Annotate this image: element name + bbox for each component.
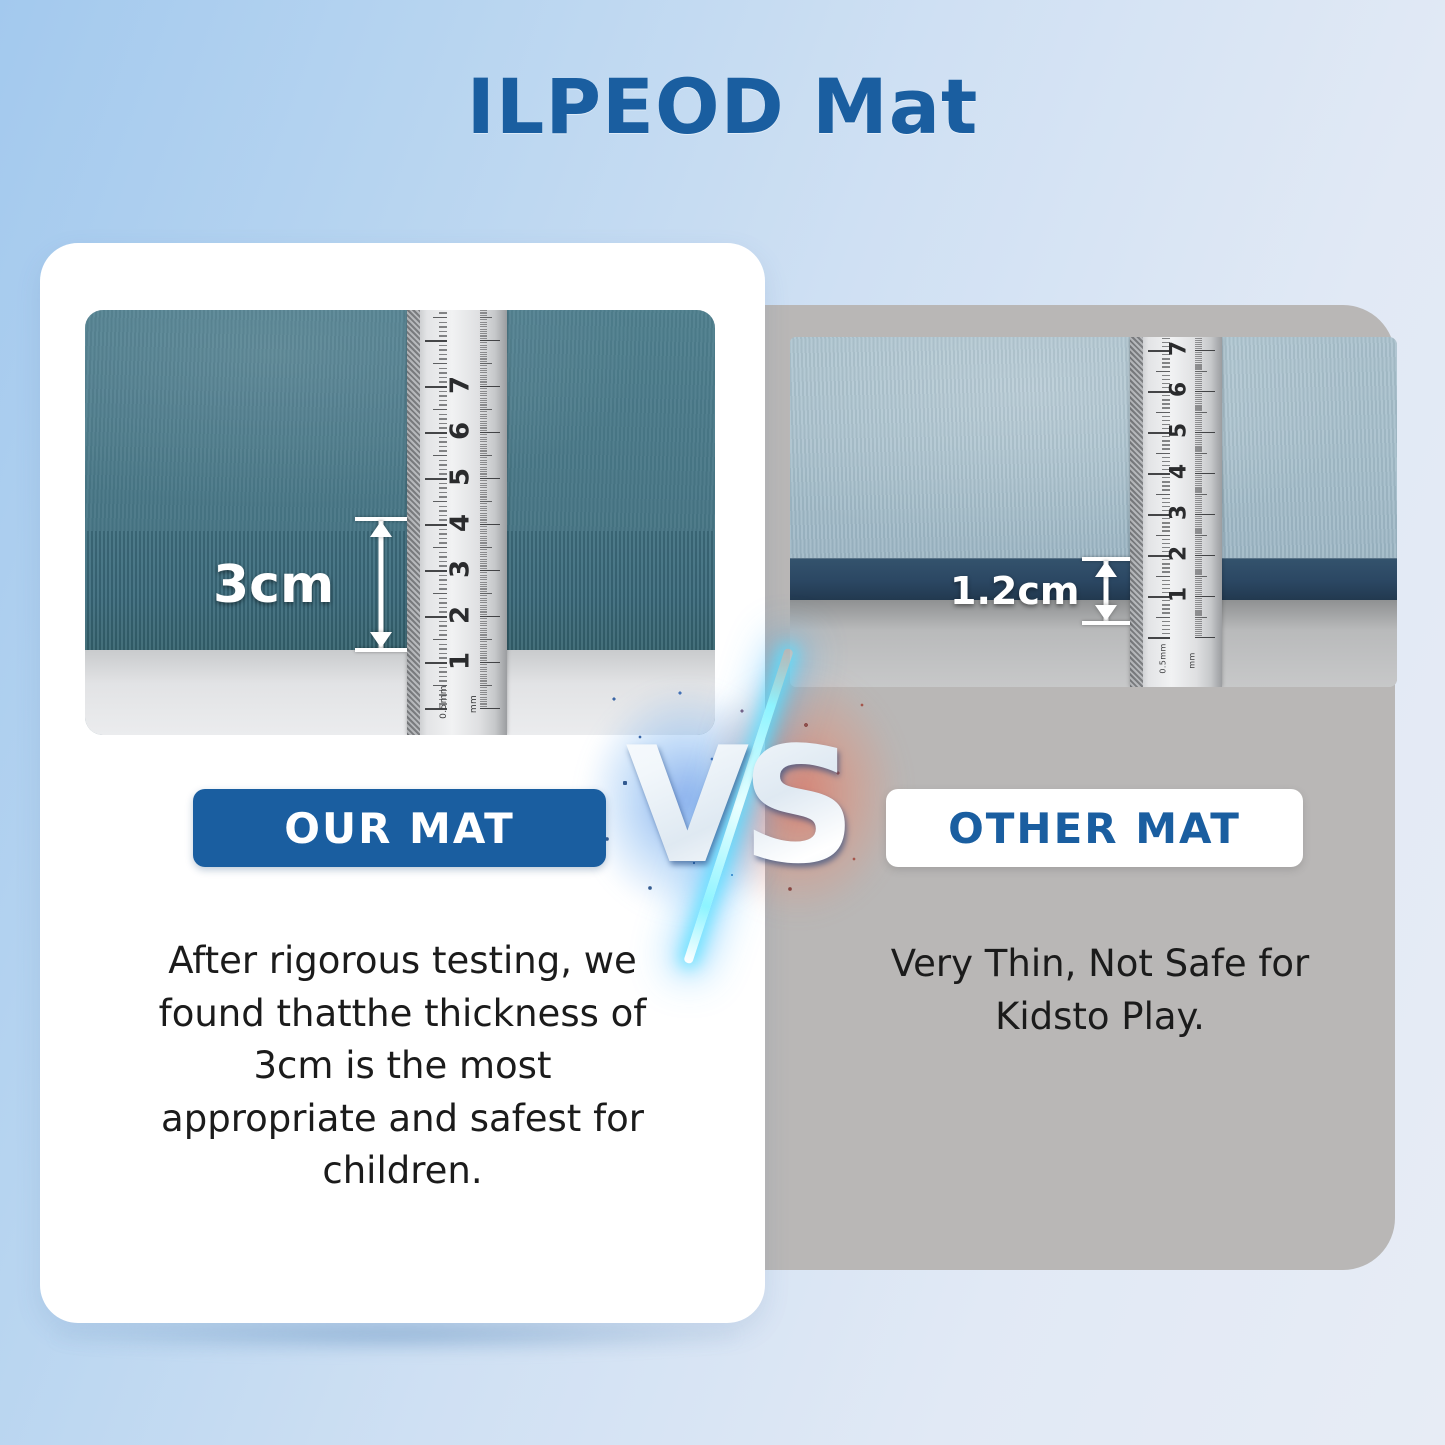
ruler-tick	[480, 319, 487, 320]
other-mat-measurement-label: 1.2cm	[950, 569, 1079, 613]
ruler-tick	[1195, 596, 1215, 597]
ruler-tick	[480, 444, 487, 445]
ruler-tick	[480, 687, 487, 688]
ruler-tick	[1195, 637, 1215, 638]
ruler-tick	[1148, 637, 1170, 639]
ruler-tick	[1195, 459, 1202, 460]
ruler-number: 7	[1167, 337, 1192, 362]
ruler-tick	[1195, 619, 1202, 620]
ruler-ticks-right	[480, 310, 504, 735]
ruler-tick	[480, 593, 492, 594]
ruler-tick	[480, 510, 487, 511]
ruler-tick	[425, 616, 447, 618]
ruler-tick	[1195, 368, 1202, 369]
ruler-tick	[1195, 354, 1202, 355]
ruler-tick	[1195, 356, 1202, 357]
ruler-tick	[480, 388, 487, 389]
ruler-tick	[1162, 571, 1170, 572]
ruler-tick	[1195, 465, 1202, 466]
ruler-tick	[433, 547, 447, 548]
ruler-tick	[1195, 563, 1202, 564]
ruler-tick	[1195, 617, 1207, 618]
ruler-tick	[1195, 381, 1202, 382]
ruler-tick	[1195, 471, 1202, 472]
ruler-tick	[480, 430, 487, 431]
ruler-tick	[480, 503, 487, 504]
ruler-tick	[1195, 610, 1202, 611]
ruler-tick	[480, 478, 500, 479]
ruler-tick	[480, 648, 487, 649]
ruler-tick	[1195, 409, 1202, 410]
ruler-tick	[480, 324, 487, 325]
ruler-tick	[480, 646, 487, 647]
ruler-tick	[1195, 567, 1202, 568]
ruler-tick	[1195, 338, 1202, 339]
ruler-tick	[480, 439, 487, 440]
ruler-tick	[1195, 440, 1202, 441]
ruler-tick	[480, 506, 487, 507]
ruler-tick	[1195, 496, 1202, 497]
ruler-tick	[480, 361, 487, 362]
ruler-tick	[480, 467, 487, 468]
ruler-tick	[1195, 424, 1202, 425]
ruler-tick	[480, 519, 487, 520]
ruler-tick	[480, 331, 487, 332]
ruler-tick	[1195, 594, 1202, 595]
ruler-tick	[1195, 389, 1202, 390]
ruler-tick	[1195, 457, 1202, 458]
ruler-tick	[480, 372, 487, 373]
ruler-tick	[480, 651, 487, 652]
ruler-tick	[480, 329, 487, 330]
ruler-tick	[1195, 561, 1202, 562]
ruler-knurled-edge-icon	[1130, 337, 1143, 687]
ruler-tick	[1195, 385, 1202, 386]
card-ground-shadow	[55, 1318, 735, 1352]
ruler-number: 5	[446, 461, 476, 492]
ruler-tick	[1195, 489, 1202, 490]
ruler-tick	[439, 358, 447, 359]
ruler-tick	[439, 542, 447, 543]
ruler-tick	[1195, 450, 1202, 451]
ruler-tick	[480, 312, 487, 313]
ruler-tick	[1195, 494, 1207, 495]
ruler-tick	[1195, 500, 1202, 501]
ruler-tick	[1195, 514, 1215, 515]
ruler-number: 2	[446, 599, 476, 630]
ruler-tick	[480, 464, 487, 465]
ruler-number: 7	[446, 369, 476, 400]
ruler-tick	[480, 345, 487, 346]
ruler-tick	[480, 499, 487, 500]
ruler-number: 1	[446, 645, 476, 676]
ruler-tick	[480, 522, 487, 523]
ruler-ticks-right	[1195, 337, 1219, 687]
ruler-tick	[480, 395, 487, 396]
ruler-tick	[1195, 479, 1202, 480]
ruler-tick	[1195, 346, 1202, 347]
ruler-tick	[480, 588, 487, 589]
ruler-tick	[480, 568, 487, 569]
ruler-tick	[1195, 477, 1202, 478]
ruler-tick	[439, 588, 447, 589]
ruler-tick	[1195, 635, 1202, 636]
ruler-tick	[1195, 371, 1207, 372]
ruler-tick	[480, 421, 487, 422]
ruler-tick	[1195, 487, 1202, 488]
ruler-tick	[480, 540, 487, 541]
ruler-tick	[1195, 420, 1202, 421]
ruler-tick	[1195, 524, 1202, 525]
ruler-tick	[480, 347, 487, 348]
ruler-tick	[480, 485, 487, 486]
ruler-tick	[1195, 526, 1202, 527]
ruler-tick	[1195, 623, 1202, 624]
ruler-tick	[480, 538, 487, 539]
ruler-tick	[1195, 549, 1202, 550]
ruler-tick	[480, 365, 487, 366]
ruler-tick	[1195, 506, 1202, 507]
ruler-tick	[1195, 590, 1202, 591]
ruler-tick	[1156, 617, 1170, 618]
ruler-tick	[1195, 412, 1207, 413]
ruler-unit-label: mm	[469, 695, 479, 713]
ruler-tick	[480, 602, 487, 603]
ruler-tick	[480, 678, 487, 679]
ruler-tick	[480, 370, 487, 371]
ruler-tick	[1195, 541, 1202, 542]
ruler-tick	[480, 411, 487, 412]
ruler-tick	[1195, 418, 1202, 419]
ruler-number: 6	[446, 415, 476, 446]
ruler-tick	[480, 398, 487, 399]
ruler-tick	[1195, 543, 1202, 544]
ruler-tick	[480, 434, 487, 435]
ruler-tick	[425, 340, 447, 342]
ruler-tick	[1195, 350, 1215, 351]
ruler-tick	[480, 616, 500, 617]
measurement-shaft	[379, 521, 384, 648]
ruler-tick	[1195, 584, 1202, 585]
ruler-tick	[1162, 567, 1170, 568]
ruler-tick	[439, 680, 447, 681]
ruler-tick	[1195, 432, 1215, 433]
ruler-tick	[480, 335, 487, 336]
ruler-tick	[480, 669, 487, 670]
ruler-tick	[480, 692, 487, 693]
ruler-tick	[1195, 397, 1202, 398]
ruler-tick	[439, 331, 447, 332]
ruler-tick	[480, 632, 487, 633]
ruler-tick	[1195, 401, 1202, 402]
ruler-tick	[1195, 537, 1202, 538]
measurement-arrowhead-down-icon	[370, 632, 392, 648]
ruler-tick	[480, 381, 487, 382]
ruler-tick	[480, 379, 487, 380]
ruler-tick	[1162, 362, 1170, 363]
ruler-tick	[480, 641, 487, 642]
ruler-tick	[1195, 485, 1202, 486]
ruler-tick	[1195, 559, 1202, 560]
ruler-tick	[480, 639, 492, 640]
other-mat-label-pill[interactable]: OTHER MAT	[886, 789, 1303, 867]
ruler-tick	[480, 352, 487, 353]
ruler-tick	[1195, 553, 1202, 554]
ruler-tick	[433, 409, 447, 410]
ruler-tick	[480, 326, 487, 327]
ruler-tick	[480, 517, 487, 518]
ruler-tick	[480, 340, 500, 341]
ruler-tick	[480, 570, 500, 571]
ruler-tick	[1195, 352, 1202, 353]
ruler-ticks-left	[421, 310, 447, 735]
ruler-tick	[1156, 494, 1170, 495]
ruler-tick	[1162, 608, 1170, 609]
ruler-tick	[480, 611, 487, 612]
ruler-tick	[1162, 489, 1170, 490]
ruler-tick	[1195, 403, 1202, 404]
ruler-tick	[1195, 508, 1202, 509]
ruler-tick	[1195, 621, 1202, 622]
ruler-tick	[1195, 602, 1202, 603]
ruler-tick	[480, 407, 487, 408]
ruler-tick	[480, 356, 487, 357]
ruler-tick	[1162, 629, 1170, 630]
ruler-tick	[1195, 510, 1202, 511]
ruler-number: 6	[1167, 377, 1192, 403]
ruler-tick	[425, 386, 447, 388]
ruler-tick	[480, 508, 487, 509]
ruler-number: 5	[1167, 418, 1192, 444]
ruler-tick	[1195, 600, 1202, 601]
ruler-tick	[480, 577, 487, 578]
ruler-tick	[439, 312, 447, 313]
ruler-tick	[480, 457, 487, 458]
our-mat-label-pill[interactable]: OUR MAT	[193, 789, 606, 867]
ruler-tick	[1162, 633, 1170, 634]
ruler-tick	[1195, 364, 1202, 365]
infographic-canvas: ILPEOD Mat 0.5mm mm 1234567	[0, 0, 1445, 1445]
ruler-tick	[1195, 360, 1202, 361]
ruler-tick	[480, 699, 487, 700]
ruler-tick	[480, 628, 487, 629]
ruler-tick	[480, 483, 487, 484]
ruler-tick	[480, 683, 487, 684]
ruler-tick	[480, 480, 487, 481]
ruler-tick	[480, 402, 487, 403]
ruler-tick	[1195, 520, 1202, 521]
ruler-tick	[1195, 426, 1202, 427]
ruler-tick	[1162, 612, 1170, 613]
ruler-tick	[1195, 416, 1202, 417]
ruler-tick	[480, 618, 487, 619]
ruler-tick	[425, 432, 447, 434]
ruler-tick	[439, 496, 447, 497]
ruler-tick	[1195, 625, 1202, 626]
ruler-tick	[1162, 530, 1170, 531]
ruler-tick	[1195, 358, 1202, 359]
ruler-tick	[439, 404, 447, 405]
ruler-tick	[1195, 557, 1202, 558]
ruler-tick	[480, 490, 487, 491]
ruler-precision-label: 0.5mm	[439, 685, 449, 719]
ruler-tick	[1195, 539, 1202, 540]
ruler-tick	[1195, 535, 1207, 536]
ruler-tick	[480, 418, 487, 419]
ruler-tick	[1195, 366, 1202, 367]
ruler-tick	[1195, 631, 1202, 632]
ruler-tick	[480, 536, 487, 537]
ruler-tick	[1195, 436, 1202, 437]
ruler-tick	[1195, 545, 1202, 546]
ruler-tick	[1195, 463, 1202, 464]
ruler-tick	[480, 680, 487, 681]
ruler-tick	[1162, 526, 1170, 527]
ruler-tick	[480, 333, 487, 334]
ruler-tick	[480, 437, 487, 438]
ruler-tick	[480, 386, 500, 387]
ruler-tick	[480, 609, 487, 610]
ruler-tick	[480, 579, 487, 580]
ruler-tick	[1195, 555, 1215, 556]
ruler-knurled-edge-icon	[407, 310, 420, 735]
ruler-tick	[480, 552, 487, 553]
ruler-number: 4	[446, 507, 476, 538]
ruler-tick	[480, 446, 487, 447]
ruler-tick	[480, 549, 487, 550]
ruler-tick	[480, 476, 487, 477]
ruler-tick	[480, 657, 487, 658]
measurement-cap-bottom	[1082, 621, 1130, 625]
ruler-tick	[480, 667, 487, 668]
ruler-tick	[1162, 621, 1170, 622]
ruler-tick	[1156, 412, 1170, 413]
ruler-tick	[480, 317, 492, 318]
ruler-tick	[480, 515, 487, 516]
ruler-tick	[1195, 467, 1202, 468]
ruler-tick	[480, 584, 487, 585]
ruler-tick	[480, 469, 487, 470]
ruler-tick	[1195, 573, 1202, 574]
ruler-tick	[480, 409, 492, 410]
ruler-tick	[480, 591, 487, 592]
ruler-tick	[1195, 608, 1202, 609]
ruler-tick	[1195, 522, 1202, 523]
ruler-tick	[480, 471, 487, 472]
ruler-tick	[1195, 516, 1202, 517]
other-mat-measurement-arrow	[1082, 557, 1130, 625]
ruler-tick	[480, 660, 487, 661]
ruler-tick	[433, 317, 447, 318]
ruler-tick	[1195, 528, 1202, 529]
ruler-tick	[480, 575, 487, 576]
ruler-tick	[1195, 576, 1207, 577]
ruler-tick	[425, 570, 447, 572]
ruler-tick	[480, 358, 487, 359]
ruler-tick	[480, 605, 487, 606]
ruler-tick	[480, 425, 487, 426]
ruler-tick	[1156, 453, 1170, 454]
ruler-tick	[1162, 625, 1170, 626]
ruler-tick	[480, 653, 487, 654]
ruler-tick	[480, 501, 492, 502]
ruler-tick	[480, 547, 492, 548]
ruler-tick	[1195, 502, 1202, 503]
ruler-tick	[1195, 633, 1202, 634]
ruler-tick	[1195, 430, 1202, 431]
ruler-tick	[480, 586, 487, 587]
ruler-tick	[480, 697, 487, 698]
ruler-tick	[425, 478, 447, 480]
ruler-tick	[480, 354, 487, 355]
ruler-tick	[1156, 535, 1170, 536]
ruler-tick	[480, 703, 487, 704]
ruler-tick	[480, 690, 487, 691]
ruler-tick	[1195, 512, 1202, 513]
ruler-tick	[480, 524, 500, 525]
ruler-tick	[1162, 448, 1170, 449]
ruler-tick	[480, 545, 487, 546]
ruler-tick	[433, 455, 447, 456]
ruler-tick	[1195, 414, 1202, 415]
ruler-our: 0.5mm mm 1234567	[407, 310, 507, 735]
ruler-tick	[1195, 340, 1202, 341]
ruler-tick	[480, 637, 487, 638]
ruler-tick	[480, 455, 492, 456]
ruler-tick	[439, 349, 447, 350]
ruler-tick	[1195, 498, 1202, 499]
ruler-tick	[1195, 344, 1202, 345]
ruler-tick	[1195, 588, 1202, 589]
ruler-tick	[480, 342, 487, 343]
ruler-tick	[1156, 576, 1170, 577]
ruler-tick	[1195, 448, 1202, 449]
ruler-tick	[1195, 391, 1215, 392]
ruler-tick	[1162, 444, 1170, 445]
ruler-tick	[480, 614, 487, 615]
ruler-tick	[480, 706, 487, 707]
ruler-tick	[1195, 342, 1202, 343]
ruler-tick	[480, 572, 487, 573]
ruler-tick	[1195, 586, 1202, 587]
ruler-tick	[480, 621, 487, 622]
ruler-tick	[480, 432, 500, 433]
ruler-tick	[480, 487, 487, 488]
ruler-tick	[480, 630, 487, 631]
ruler-tick	[480, 563, 487, 564]
ruler-tick	[1195, 377, 1202, 378]
ruler-tick	[1195, 438, 1202, 439]
ruler-tick	[480, 391, 487, 392]
ruler-tick	[1195, 592, 1202, 593]
ruler-tick	[439, 450, 447, 451]
ruler-tick	[480, 492, 487, 493]
ruler-tick	[480, 496, 487, 497]
ruler-tick	[1195, 395, 1202, 396]
ruler-tick	[439, 634, 447, 635]
ruler-tick	[1195, 532, 1202, 533]
ruler-tick	[1195, 569, 1202, 570]
other-mat-panel: 0.5mm mm 1234567 1.2cm	[735, 305, 1395, 1270]
ruler-tick	[1195, 399, 1202, 400]
ruler-tick	[480, 450, 487, 451]
ruler-tick	[1195, 469, 1202, 470]
ruler-precision-label: 0.5mm	[1159, 643, 1168, 673]
ruler-tick	[1195, 393, 1202, 394]
ruler-tick	[480, 598, 487, 599]
ruler-tick	[1195, 379, 1202, 380]
ruler-tick	[439, 335, 447, 336]
